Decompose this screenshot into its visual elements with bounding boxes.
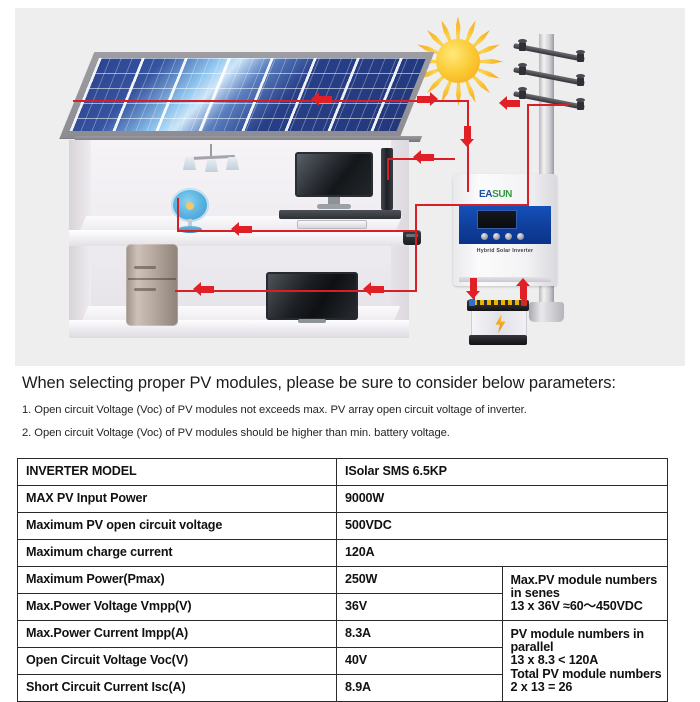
battery-icon xyxy=(467,296,529,348)
arrow-into-inverter xyxy=(460,126,475,147)
row-value-open-circuit-voltage-voc: 40V xyxy=(337,648,503,675)
wire-fan-drop xyxy=(177,198,179,230)
logo-text-ea: EA xyxy=(479,189,492,200)
row-label-maximum-power-pmax: Maximum Power(Pmax) xyxy=(18,567,337,594)
wire-floor-middle xyxy=(177,230,417,232)
arrow-to-house-top xyxy=(311,92,332,107)
intro-note-2: 2. Open circuit Voltage (Voc) of PV modu… xyxy=(22,427,682,439)
row-label-max-power-current-impp: Max.Power Current Impp(A) xyxy=(18,621,337,648)
wire-grid-vertical xyxy=(527,104,529,204)
keyboard-icon xyxy=(297,220,367,229)
wire-grid-to-pole xyxy=(527,104,569,106)
row-label-open-circuit-voltage-voc: Open Circuit Voltage Voc(V) xyxy=(18,648,337,675)
row-value-max-power-voltage-vmpp: 36V xyxy=(337,594,503,621)
inverter-lcd-screen xyxy=(477,210,517,229)
intro-block: When selecting proper PV modules, please… xyxy=(22,374,682,439)
arrow-to-fridge xyxy=(193,282,214,297)
ceiling-lamp-icon xyxy=(181,144,241,174)
table-row: Max.Power Current Impp(A) 8.3A PV module… xyxy=(18,621,668,648)
house-cutaway xyxy=(51,48,441,348)
electric-fan-icon xyxy=(169,188,211,234)
arrow-from-battery xyxy=(516,278,531,299)
solar-system-illustration: EASUN Hybrid Solar Inverter xyxy=(15,8,685,366)
row-value-maximum-power-pmax: 250W xyxy=(337,567,503,594)
row-value-max-pv-input-power: 9000W xyxy=(337,486,668,513)
arrow-to-battery xyxy=(466,278,481,299)
television-icon xyxy=(266,272,358,324)
easun-logo: EASUN xyxy=(479,189,533,201)
computer-monitor-icon xyxy=(295,152,373,214)
note-parallel: PV module numbers in parallel 13 x 8.3 <… xyxy=(502,621,668,702)
lightning-bolt-icon xyxy=(494,314,507,333)
arrow-to-tv xyxy=(363,282,384,297)
intro-note-1: 1. Open circuit Voltage (Voc) of PV modu… xyxy=(22,404,682,416)
row-value-short-circuit-current-isc: 8.9A xyxy=(337,675,503,702)
arrow-from-grid xyxy=(499,96,520,111)
table-row: INVERTER MODEL ISolar SMS 6.5KP xyxy=(18,459,668,486)
wire-panel-top xyxy=(73,100,469,102)
row-value-max-charge-current: 120A xyxy=(337,540,668,567)
table-row: Maximum PV open circuit voltage 500VDC xyxy=(18,513,668,540)
solar-panel-array xyxy=(60,52,435,138)
row-value-max-pv-open-circuit-voltage: 500VDC xyxy=(337,513,668,540)
table-row: Maximum Power(Pmax) 250W Max.PV module n… xyxy=(18,567,668,594)
inverter-caption: Hybrid Solar Inverter xyxy=(453,248,557,254)
row-label-max-charge-current: Maximum charge current xyxy=(18,540,337,567)
row-label-max-power-voltage-vmpp: Max.Power Voltage Vmpp(V) xyxy=(18,594,337,621)
row-label-short-circuit-current-isc: Short Circuit Current Isc(A) xyxy=(18,675,337,702)
wall-outlet-icon xyxy=(403,230,421,245)
arrow-panel-to-inverter xyxy=(417,92,438,107)
wire-desk-drop xyxy=(387,158,389,180)
table-row: Maximum charge current 120A xyxy=(18,540,668,567)
logo-text-sun: SUN xyxy=(492,189,512,200)
page-heading: When selecting proper PV modules, please… xyxy=(22,374,682,393)
wire-inverter-down xyxy=(415,204,417,290)
row-value-max-power-current-impp: 8.3A xyxy=(337,621,503,648)
refrigerator-icon xyxy=(126,244,178,326)
arrow-to-monitor xyxy=(413,150,434,165)
row-value-inverter-model: ISolar SMS 6.5KP xyxy=(337,459,668,486)
row-label-max-pv-open-circuit-voltage: Maximum PV open circuit voltage xyxy=(18,513,337,540)
pv-spec-table: INVERTER MODEL ISolar SMS 6.5KP MAX PV I… xyxy=(17,458,668,702)
row-label-max-pv-input-power: MAX PV Input Power xyxy=(18,486,337,513)
wire-inverter-feed xyxy=(415,204,529,206)
row-label-inverter-model: INVERTER MODEL xyxy=(18,459,337,486)
table-row: MAX PV Input Power 9000W xyxy=(18,486,668,513)
desk-icon xyxy=(279,210,401,219)
note-series: Max.PV module numbers in senes 13 x 36V … xyxy=(502,567,668,621)
arrow-to-fan xyxy=(231,222,252,237)
